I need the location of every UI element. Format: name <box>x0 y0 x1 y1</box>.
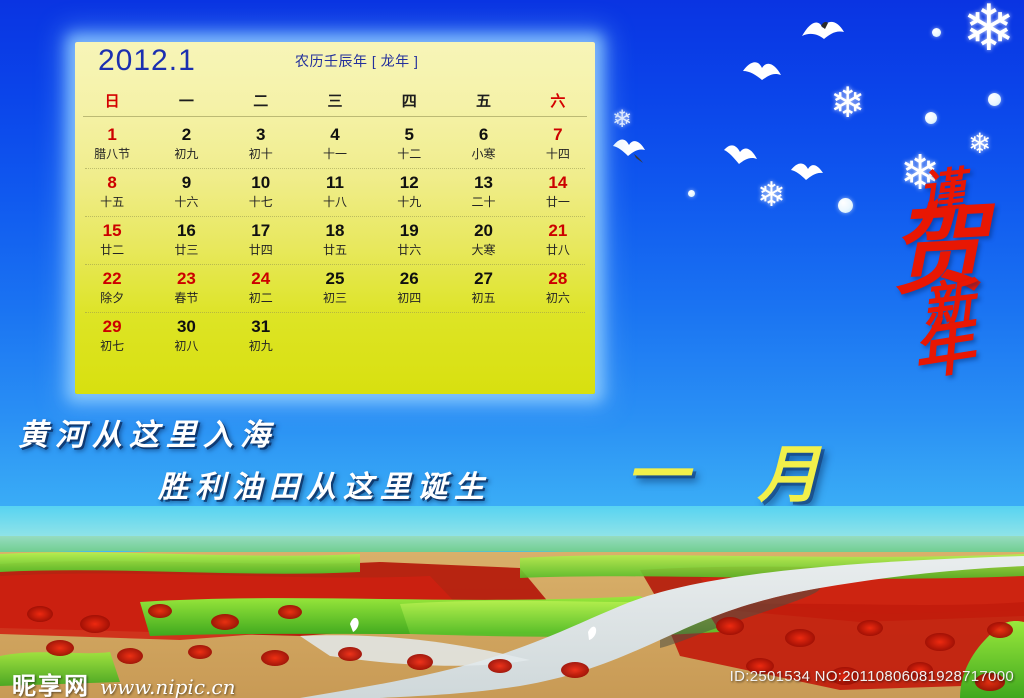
calendar-lunar-label: 十七 <box>249 194 273 210</box>
calendar-day-number: 28 <box>548 270 567 288</box>
slogan-block: 黄河从这里入海 胜利油田从这里诞生 <box>18 410 558 506</box>
calendar-lunar-label: 初四 <box>397 290 421 306</box>
calendar-lunar-label: 十五 <box>100 194 124 210</box>
calendar-week-row: 22除夕23春节24初二25初三26初四27初五28初六 <box>75 265 595 312</box>
site-watermark: 昵享网 www.nipic.cn <box>12 666 235 698</box>
new-year-greeting: 谨 贺 新 年 <box>880 170 1010 377</box>
site-url: www.nipic.cn <box>100 675 235 698</box>
calendar-lunar-label: 初五 <box>472 290 496 306</box>
calendar-day-number: 18 <box>326 222 345 240</box>
snow-dot-icon <box>688 190 695 197</box>
image-id-watermark: ID:2501534 NO:20110806081928717000 <box>730 668 1014 685</box>
calendar-day-cell[interactable]: 2初九 <box>149 121 223 168</box>
calendar-day-cell[interactable]: 26初四 <box>372 265 446 312</box>
snowflake-icon: ❄ <box>830 82 865 124</box>
calendar-day-number: 19 <box>400 222 419 240</box>
calendar-day-number: 7 <box>553 126 562 144</box>
calendar-lunar-label: 廿五 <box>323 242 347 258</box>
calendar-empty-cell <box>298 313 372 360</box>
calendar-lunar-label: 初七 <box>100 338 124 354</box>
weekday-header-row: 日 一 二 三 四 五 六 <box>75 86 595 114</box>
calendar-week-row: 15廿二16廿三17廿四18廿五19廿六20大寒21廿八 <box>75 217 595 264</box>
calendar-day-cell[interactable]: 29初七 <box>75 313 149 360</box>
calendar-week-row: 1腊八节2初九3初十4十一5十二6小寒7十四 <box>75 121 595 168</box>
calendar-day-cell[interactable]: 18廿五 <box>298 217 372 264</box>
slogan-line-1: 黄河从这里入海 <box>18 410 558 454</box>
calendar-day-cell[interactable]: 20大寒 <box>446 217 520 264</box>
calendar-day-number: 3 <box>256 126 265 144</box>
calendar-day-number: 11 <box>326 174 344 192</box>
calendar-day-number: 24 <box>251 270 270 288</box>
calendar-day-cell[interactable]: 24初二 <box>224 265 298 312</box>
calendar-day-number: 20 <box>474 222 493 240</box>
calendar-day-number: 8 <box>107 174 116 192</box>
calendar-day-number: 13 <box>474 174 493 192</box>
calendar-panel: 2012.1 农历壬辰年 [ 龙年 ] 日 一 二 三 四 五 六 1腊八节2初… <box>75 42 595 394</box>
calendar-empty-cell <box>521 313 595 360</box>
calendar-day-cell[interactable]: 25初三 <box>298 265 372 312</box>
calendar-lunar-label: 二十 <box>472 194 496 210</box>
calendar-day-cell[interactable]: 9十六 <box>149 169 223 216</box>
calendar-lunar-label: 十四 <box>546 146 570 162</box>
calendar-day-number: 27 <box>474 270 493 288</box>
snow-dot-icon <box>925 112 937 124</box>
calendar-day-cell[interactable]: 4十一 <box>298 121 372 168</box>
calendar-day-cell[interactable]: 6小寒 <box>446 121 520 168</box>
calendar-day-cell[interactable]: 27初五 <box>446 265 520 312</box>
calendar-day-cell[interactable]: 17廿四 <box>224 217 298 264</box>
calendar-lunar-label: 廿八 <box>546 242 570 258</box>
calendar-lunar-label: 十八 <box>323 194 347 210</box>
calendar-lunar-year: 农历壬辰年 [ 龙年 ] <box>295 51 418 71</box>
calendar-day-cell[interactable]: 12十九 <box>372 169 446 216</box>
calendar-day-number: 15 <box>103 222 122 240</box>
calendar-lunar-label: 初九 <box>174 146 198 162</box>
calendar-day-cell[interactable]: 31初九 <box>224 313 298 360</box>
calendar-grid: 1腊八节2初九3初十4十一5十二6小寒7十四8十五9十六10十七11十八12十九… <box>75 117 595 360</box>
snow-dot-icon <box>932 28 941 37</box>
calendar-day-number: 16 <box>177 222 196 240</box>
calendar-week-row: 8十五9十六10十七11十八12十九13二十14廿一 <box>75 169 595 216</box>
calendar-lunar-label: 十九 <box>397 194 421 210</box>
calendar-day-cell[interactable]: 30初八 <box>149 313 223 360</box>
greeting-char-nian: 年 <box>908 316 978 382</box>
calendar-day-number: 26 <box>400 270 419 288</box>
calendar-day-number: 29 <box>103 318 122 336</box>
calendar-day-number: 17 <box>251 222 270 240</box>
calendar-day-cell[interactable]: 28初六 <box>521 265 595 312</box>
calendar-lunar-label: 大寒 <box>472 242 496 258</box>
calendar-day-number: 14 <box>548 174 567 192</box>
calendar-lunar-label: 初十 <box>249 146 273 162</box>
seagull-icon <box>722 142 758 172</box>
calendar-lunar-label: 廿一 <box>546 194 570 210</box>
seagull-icon <box>742 58 782 88</box>
calendar-lunar-label: 初二 <box>249 290 273 306</box>
calendar-empty-cell <box>372 313 446 360</box>
calendar-day-number: 30 <box>177 318 196 336</box>
calendar-lunar-label: 初八 <box>174 338 198 354</box>
weekday-header-tue: 二 <box>224 90 298 111</box>
weekday-header-sat: 六 <box>521 90 595 111</box>
calendar-day-cell[interactable]: 8十五 <box>75 169 149 216</box>
calendar-header: 2012.1 农历壬辰年 [ 龙年 ] <box>75 42 595 86</box>
slogan-line-2: 胜利油田从这里诞生 <box>158 462 558 506</box>
calendar-lunar-label: 初六 <box>546 290 570 306</box>
calendar-lunar-label: 廿四 <box>249 242 273 258</box>
calendar-year-title: 2012.1 <box>98 44 196 78</box>
snowflake-icon: ❄ <box>757 178 786 212</box>
calendar-poster: ❄ ❄ ❄ ❄ ❄ ❄ 2012.1 <box>0 0 1024 698</box>
calendar-day-number: 22 <box>103 270 122 288</box>
calendar-day-cell[interactable]: 15廿二 <box>75 217 149 264</box>
calendar-day-number: 6 <box>479 126 488 144</box>
calendar-lunar-label: 春节 <box>174 290 198 306</box>
calendar-lunar-label: 廿三 <box>174 242 198 258</box>
calendar-day-cell[interactable]: 21廿八 <box>521 217 595 264</box>
weekday-header-fri: 五 <box>446 90 520 111</box>
weekday-header-sun: 日 <box>75 90 149 111</box>
calendar-day-cell[interactable]: 1腊八节 <box>75 121 149 168</box>
calendar-day-cell[interactable]: 7十四 <box>521 121 595 168</box>
calendar-lunar-label: 廿二 <box>100 242 124 258</box>
calendar-day-cell[interactable]: 11十八 <box>298 169 372 216</box>
month-label: 一 月 <box>626 424 844 514</box>
snowflake-icon: ❄ <box>962 0 1016 60</box>
calendar-lunar-label: 十一 <box>323 146 347 162</box>
calendar-day-cell[interactable]: 13二十 <box>446 169 520 216</box>
snowflake-icon: ❄ <box>968 130 991 158</box>
calendar-lunar-label: 十二 <box>397 146 421 162</box>
calendar-day-cell[interactable]: 3初十 <box>224 121 298 168</box>
calendar-day-number: 2 <box>182 126 191 144</box>
calendar-lunar-label: 小寒 <box>472 146 496 162</box>
calendar-day-number: 9 <box>182 174 191 192</box>
calendar-day-cell[interactable]: 22除夕 <box>75 265 149 312</box>
calendar-day-number: 5 <box>405 126 414 144</box>
calendar-day-cell[interactable]: 19廿六 <box>372 217 446 264</box>
calendar-empty-cell <box>446 313 520 360</box>
calendar-day-number: 1 <box>107 126 116 144</box>
snow-dot-icon <box>988 93 1001 106</box>
site-name-logo: 昵享网 <box>12 666 90 698</box>
calendar-day-number: 31 <box>251 318 270 336</box>
seagull-icon <box>612 136 646 164</box>
calendar-lunar-label: 廿六 <box>397 242 421 258</box>
calendar-lunar-label: 腊八节 <box>94 146 130 162</box>
calendar-lunar-label: 初三 <box>323 290 347 306</box>
snow-dot-icon <box>838 198 853 213</box>
weekday-header-thu: 四 <box>372 90 446 111</box>
calendar-day-number: 21 <box>548 222 567 240</box>
calendar-day-number: 25 <box>326 270 345 288</box>
seagull-icon <box>800 16 846 50</box>
calendar-day-number: 23 <box>177 270 196 288</box>
snowflake-icon: ❄ <box>612 108 632 132</box>
seagull-icon <box>790 158 824 186</box>
calendar-day-number: 10 <box>251 174 270 192</box>
calendar-day-cell[interactable]: 10十七 <box>224 169 298 216</box>
calendar-day-cell[interactable]: 23春节 <box>149 265 223 312</box>
calendar-lunar-label: 除夕 <box>100 290 124 306</box>
calendar-day-cell[interactable]: 5十二 <box>372 121 446 168</box>
weekday-header-mon: 一 <box>149 90 223 111</box>
calendar-lunar-label: 初九 <box>249 338 273 354</box>
weekday-header-wed: 三 <box>298 90 372 111</box>
calendar-day-cell[interactable]: 16廿三 <box>149 217 223 264</box>
calendar-day-cell[interactable]: 14廿一 <box>521 169 595 216</box>
calendar-week-row: 29初七30初八31初九 <box>75 313 595 360</box>
calendar-day-number: 12 <box>400 174 419 192</box>
calendar-day-number: 4 <box>330 126 339 144</box>
calendar-lunar-label: 十六 <box>174 194 198 210</box>
